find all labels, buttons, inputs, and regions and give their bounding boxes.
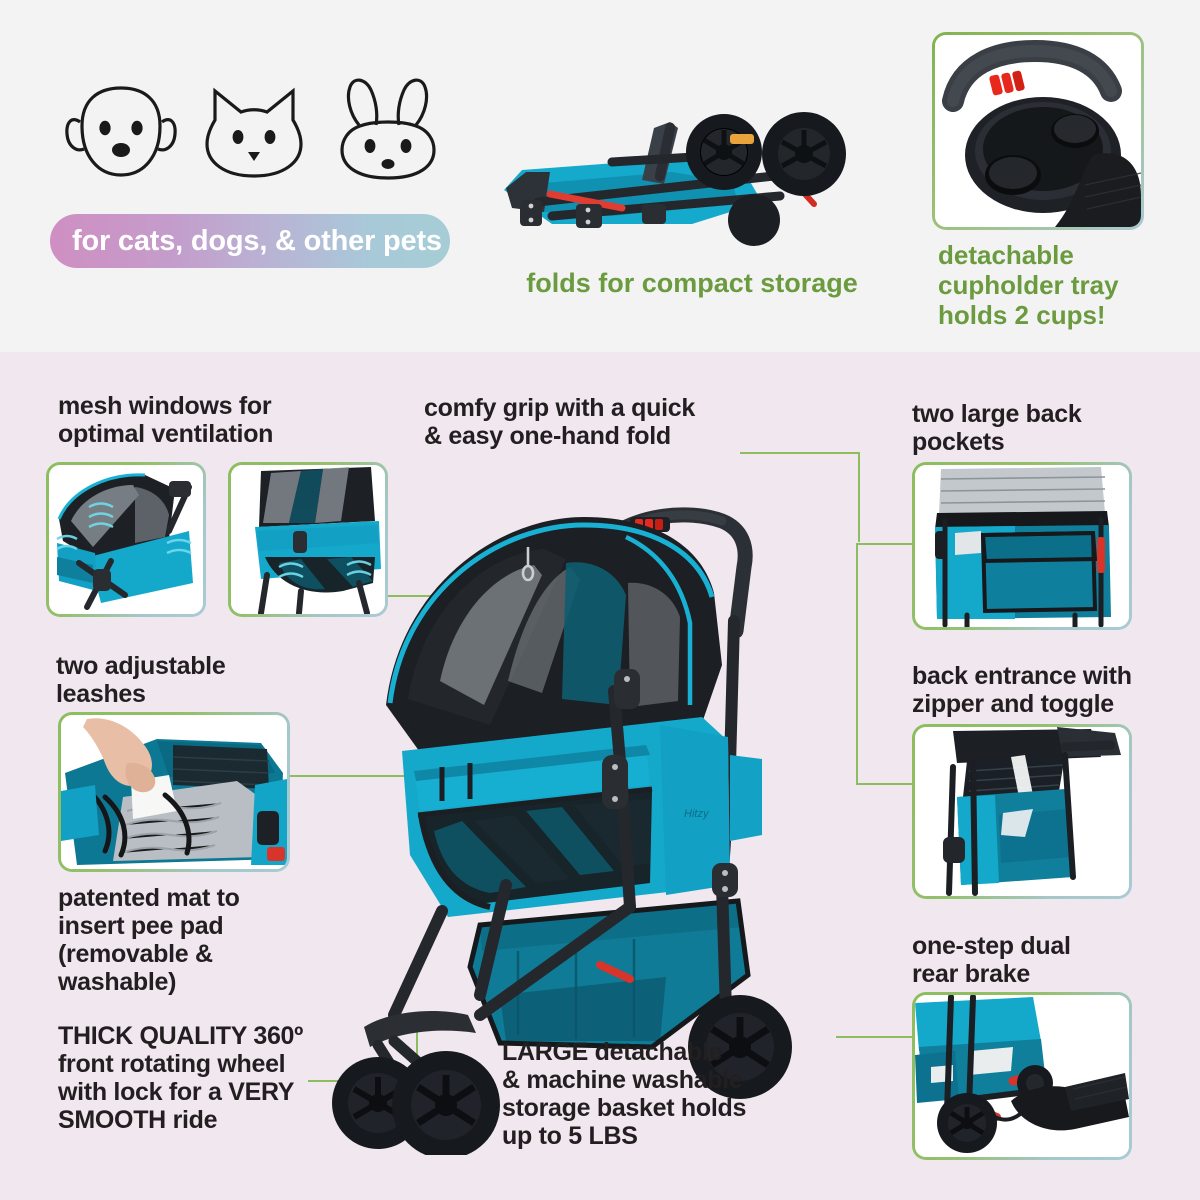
folded-stroller-photo [492, 92, 884, 252]
label-mesh-windows: mesh windows for optimal ventilation [58, 392, 368, 448]
top-section: for cats, dogs, & other pets [0, 0, 1200, 352]
label-back-entrance: back entrance with zipper and toggle [912, 662, 1192, 718]
pet-icons-row [58, 78, 458, 193]
cupholder-caption: detachable cupholder tray holds 2 cups! [938, 240, 1168, 330]
label-patented-mat: patented mat to insert pee pad (removabl… [58, 884, 338, 996]
fold-caption: folds for compact storage [492, 268, 892, 299]
svg-text:Hitzy: Hitzy [684, 808, 710, 820]
connector-right-spine [856, 543, 858, 783]
label-front-wheel: THICK QUALITY 360º front rotating wheel … [58, 1022, 358, 1134]
connector-grip [740, 452, 860, 454]
cupholder-photo-card [932, 32, 1144, 230]
label-storage-basket: LARGE detachable & machine washable stor… [502, 1038, 842, 1150]
photo-rear-brake [912, 992, 1132, 1160]
cat-face-icon [207, 91, 301, 176]
photo-adjustable-leashes [58, 712, 290, 872]
label-back-pockets: two large back pockets [912, 400, 1182, 456]
photo-back-entrance [912, 724, 1132, 899]
photo-mesh-windows-right [228, 462, 388, 617]
connector-grip-v [858, 452, 860, 542]
label-rear-brake: one-step dual rear brake [912, 932, 1192, 988]
label-adjustable-leashes: two adjustable leashes [56, 652, 336, 708]
dog-face-icon [67, 88, 175, 175]
pets-badge: for cats, dogs, & other pets [50, 214, 450, 268]
photo-mesh-windows-left [46, 462, 206, 617]
photo-back-pockets [912, 462, 1132, 630]
label-comfy-grip: comfy grip with a quick & easy one-hand … [424, 394, 754, 450]
